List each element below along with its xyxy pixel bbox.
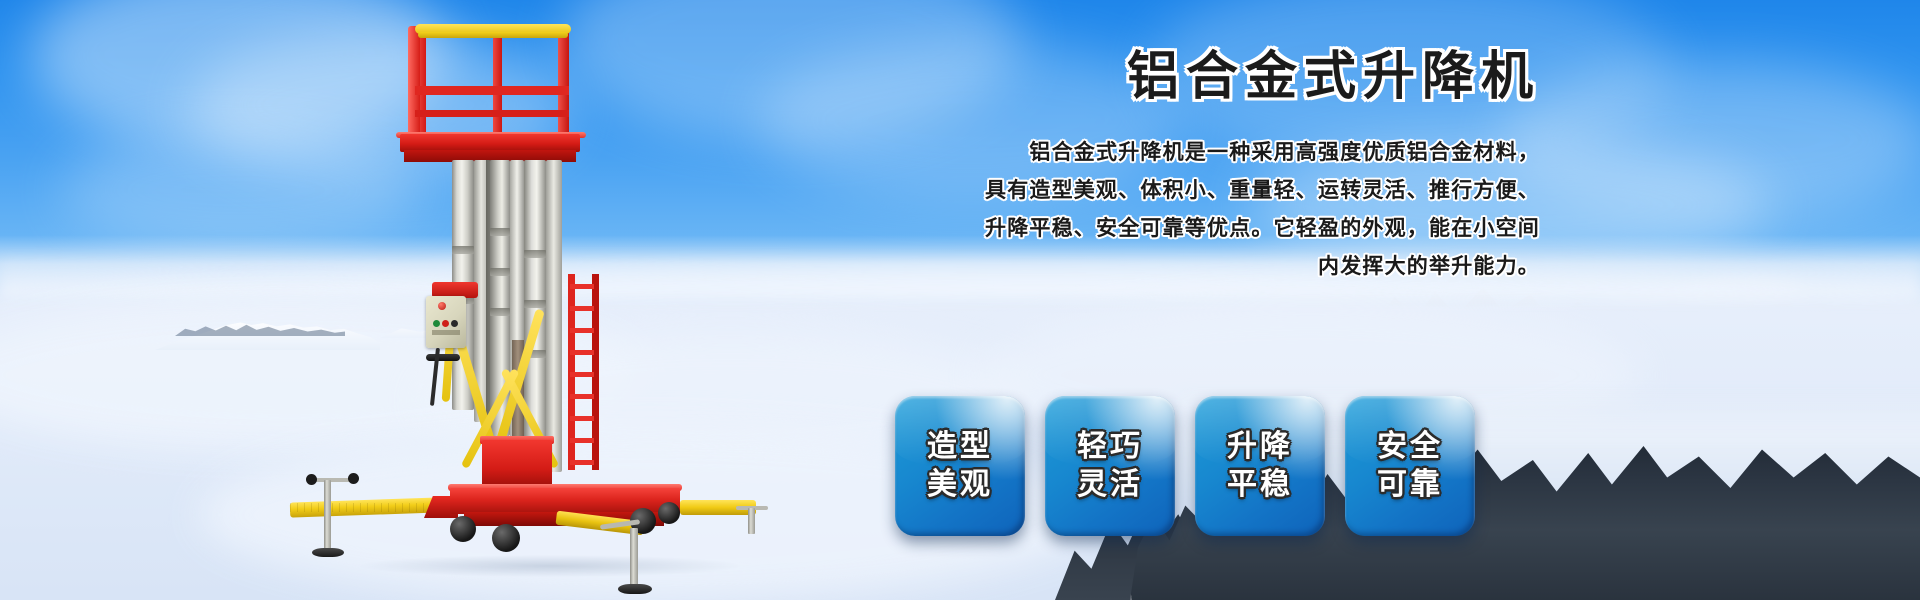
caster-wheel (658, 502, 680, 524)
control-button-red-icon (442, 320, 449, 327)
platform-corner-post (408, 26, 420, 138)
feature-badge-lightweight[interactable]: 轻巧 灵活 (1045, 396, 1175, 536)
platform-rail-post (558, 28, 569, 138)
ladder-rung (570, 306, 594, 311)
description-line: 内发挥大的举升能力。 (740, 248, 1540, 286)
feature-badge-label: 安全 可靠 (1377, 428, 1443, 504)
ladder-rung (570, 438, 594, 443)
ladder-rung (570, 284, 594, 289)
description-block: 铝合金式升降机是一种采用高强度优质铝合金材料， 具有造型美观、体积小、重量轻、运… (740, 134, 1540, 286)
control-button-black-icon (451, 320, 458, 327)
feature-badge-line1: 轻巧 (1077, 428, 1143, 466)
ladder-rung (570, 394, 594, 399)
feature-badge-label: 升降 平稳 (1227, 428, 1293, 504)
feature-badge-line1: 安全 (1377, 428, 1443, 466)
ladder-rung (570, 328, 594, 333)
feature-badge-line1: 造型 (927, 428, 993, 466)
ladder-rung (570, 416, 594, 421)
mast-joint (490, 308, 510, 316)
control-box-label (432, 330, 460, 335)
ladder-rung (570, 460, 594, 465)
caster-wheel (450, 516, 476, 542)
outrigger-foot-pad (618, 584, 652, 594)
outrigger-crossbar (312, 478, 352, 482)
machine-shadow (360, 555, 740, 577)
outrigger-leg (748, 508, 755, 534)
feature-badge-label: 轻巧 灵活 (1077, 428, 1143, 504)
platform-mid-rail (415, 86, 569, 95)
description-line: 具有造型美观、体积小、重量轻、运转灵活、推行方便、 (740, 172, 1540, 210)
outrigger-arm-texture (290, 503, 440, 512)
mast-section (546, 160, 562, 472)
feature-badge-line2: 平稳 (1227, 466, 1293, 504)
ladder-rung (570, 372, 594, 377)
emergency-stop-icon (438, 302, 446, 310)
mast-joint (524, 300, 546, 308)
outrigger-leg (324, 480, 331, 552)
mast-joint (524, 250, 546, 258)
feature-badge-line2: 可靠 (1377, 466, 1443, 504)
product-banner: 铝合金式升降机 铝合金式升降机是一种采用高强度优质铝合金材料， 具有造型美观、体… (0, 0, 1920, 600)
mast-joint (490, 228, 510, 236)
page-title: 铝合金式升降机 (740, 48, 1540, 108)
feature-badge-smooth-lift[interactable]: 升降 平稳 (1195, 396, 1325, 536)
feature-badge-line2: 灵活 (1077, 466, 1143, 504)
description-line: 铝合金式升降机是一种采用高强度优质铝合金材料， (740, 134, 1540, 172)
feature-badge-appearance[interactable]: 造型 美观 (895, 396, 1025, 536)
control-box-handle (426, 354, 460, 361)
mast-joint (452, 246, 474, 254)
ladder-rung (570, 350, 594, 355)
feature-badge-list: 造型 美观 轻巧 灵活 升降 平稳 安全 可靠 (895, 396, 1475, 536)
feature-badge-line1: 升降 (1227, 428, 1293, 466)
feature-badge-safe-reliable[interactable]: 安全 可靠 (1345, 396, 1475, 536)
outrigger-foot-pad (312, 548, 344, 557)
banner-copy: 铝合金式升降机 铝合金式升降机是一种采用高强度优质铝合金材料， 具有造型美观、体… (740, 48, 1540, 286)
outrigger-knob (348, 473, 359, 484)
platform-top-rail-yellow (418, 32, 568, 38)
power-unit-housing (482, 440, 552, 488)
mast-joint (490, 268, 510, 276)
aluminum-alloy-lift-image (300, 10, 720, 590)
caster-wheel (492, 524, 520, 552)
platform-mid-rail (415, 110, 569, 117)
feature-badge-label: 造型 美观 (927, 428, 993, 504)
description-line: 升降平稳、安全可靠等优点。它轻盈的外观，能在小空间 (740, 210, 1540, 248)
feature-badge-line2: 美观 (927, 466, 993, 504)
outrigger-leg (630, 528, 638, 588)
outrigger-knob (306, 474, 317, 485)
control-button-green-icon (433, 320, 440, 327)
